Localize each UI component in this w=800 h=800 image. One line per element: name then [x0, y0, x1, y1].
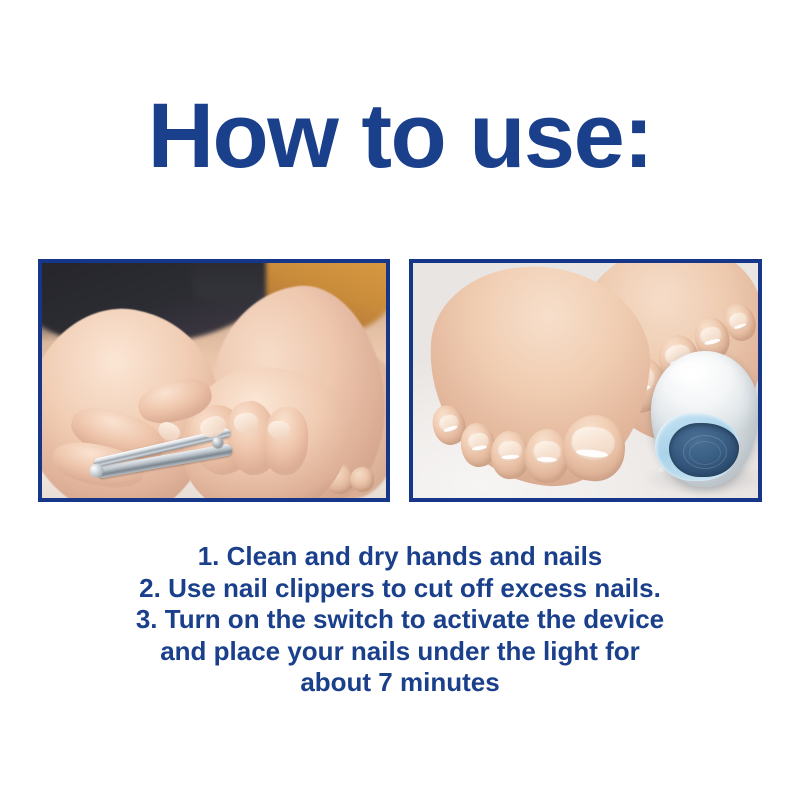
instruction-line-5: about 7 minutes — [0, 667, 800, 699]
instruction-line-2: 2. Use nail clippers to cut off excess n… — [0, 573, 800, 605]
how-to-use-poster: How to use: — [0, 0, 800, 800]
device-highlight — [669, 361, 713, 391]
device-inner-ring-2 — [689, 441, 721, 465]
photo-nail-clipping — [42, 263, 386, 498]
instruction-line-1: 1. Clean and dry hands and nails — [0, 541, 800, 573]
nail-light-device-icon — [651, 351, 758, 487]
instruction-line-4: and place your nails under the light for — [0, 636, 800, 668]
panel-clipping — [38, 259, 390, 502]
page-title: How to use: — [0, 88, 800, 184]
instruction-line-3: 3. Turn on the switch to activate the de… — [0, 604, 800, 636]
photo-feet-with-device — [413, 263, 758, 498]
panel-device — [409, 259, 762, 502]
toe — [350, 467, 375, 493]
instruction-list: 1. Clean and dry hands and nails 2. Use … — [0, 541, 800, 699]
photo-panel-group — [38, 259, 762, 502]
